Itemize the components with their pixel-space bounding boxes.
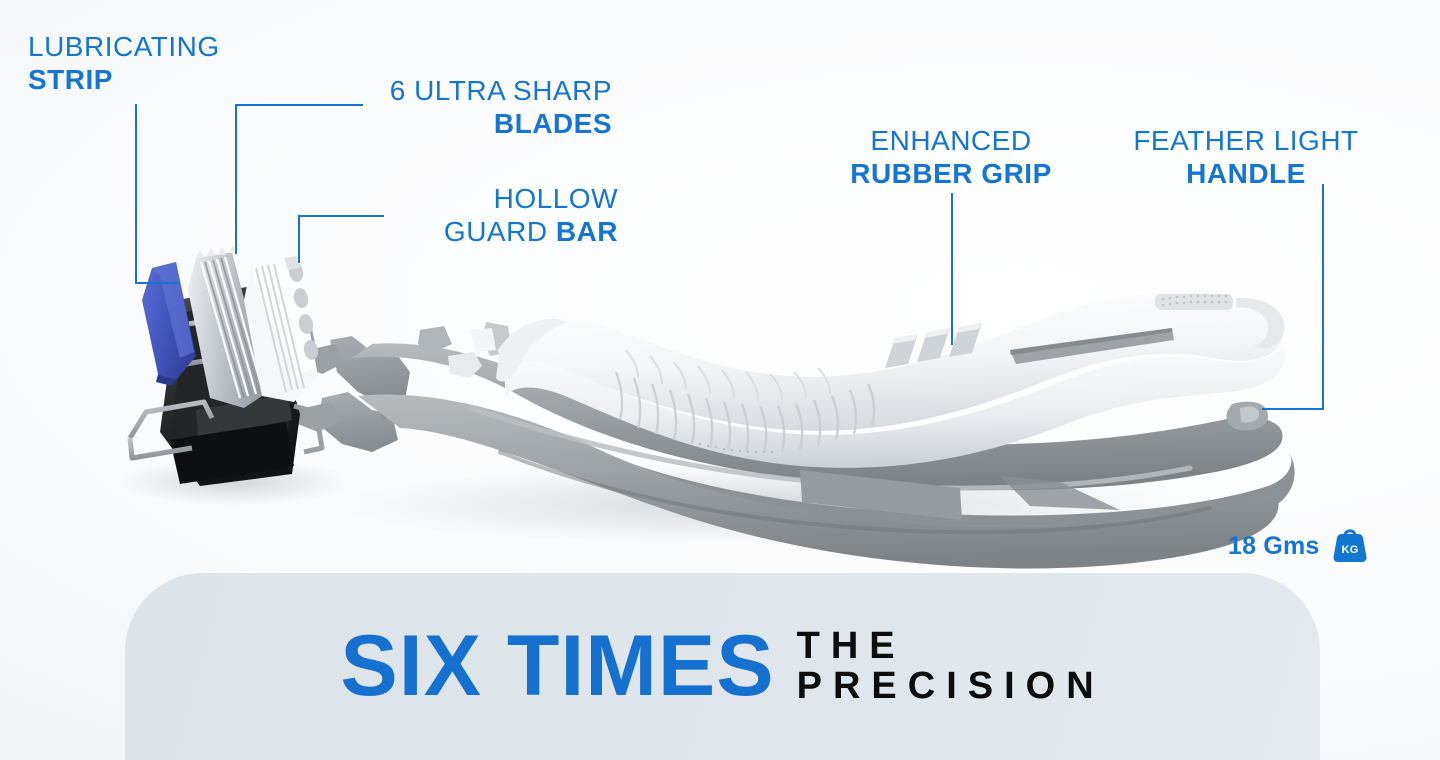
headline-secondary-line-2: PRECISION [797,667,1105,707]
headline-secondary: THE PRECISION [797,627,1105,706]
callout-line-2: BLADES [322,107,612,140]
callout-line-1: LUBRICATING [28,30,220,63]
callout-ultra-sharp-blades: 6 ULTRA SHARP BLADES [322,74,612,140]
headline-secondary-line-1: THE [797,627,1105,667]
callout-lubricating-strip: LUBRICATING STRIP [28,30,220,96]
callout-line-2: STRIP [28,63,220,96]
callout-line-2-plain: GUARD [444,216,556,247]
callout-line-1: 6 ULTRA SHARP [322,74,612,107]
callout-rubber-grip: ENHANCED RUBBER GRIP [801,124,1101,190]
callout-line-1: FEATHER LIGHT [1113,124,1379,157]
callout-hollow-guard-bar: HOLLOW GUARD BAR [340,182,618,248]
callout-feather-light-handle: FEATHER LIGHT HANDLE [1113,124,1379,190]
callout-line-2: HANDLE [1113,157,1379,190]
callout-line-2: GUARD BAR [340,215,618,248]
svg-text:KG: KG [1341,544,1358,556]
weight-badge: 18 Gms KG [1228,521,1370,572]
headline-primary: SIX TIMES [340,626,774,708]
callout-line-2-bold: BAR [556,216,618,247]
headline-block: SIX TIMES THE PRECISION [125,573,1320,760]
callout-line-1: HOLLOW [340,182,618,215]
callout-line-2: RUBBER GRIP [801,157,1101,190]
weight-kg-icon: KG [1330,521,1370,572]
weight-value: 18 Gms [1228,532,1320,561]
callout-line-1: ENHANCED [801,124,1101,157]
infographic-canvas: LUBRICATING STRIP 6 ULTRA SHARP BLADES H… [0,0,1440,760]
